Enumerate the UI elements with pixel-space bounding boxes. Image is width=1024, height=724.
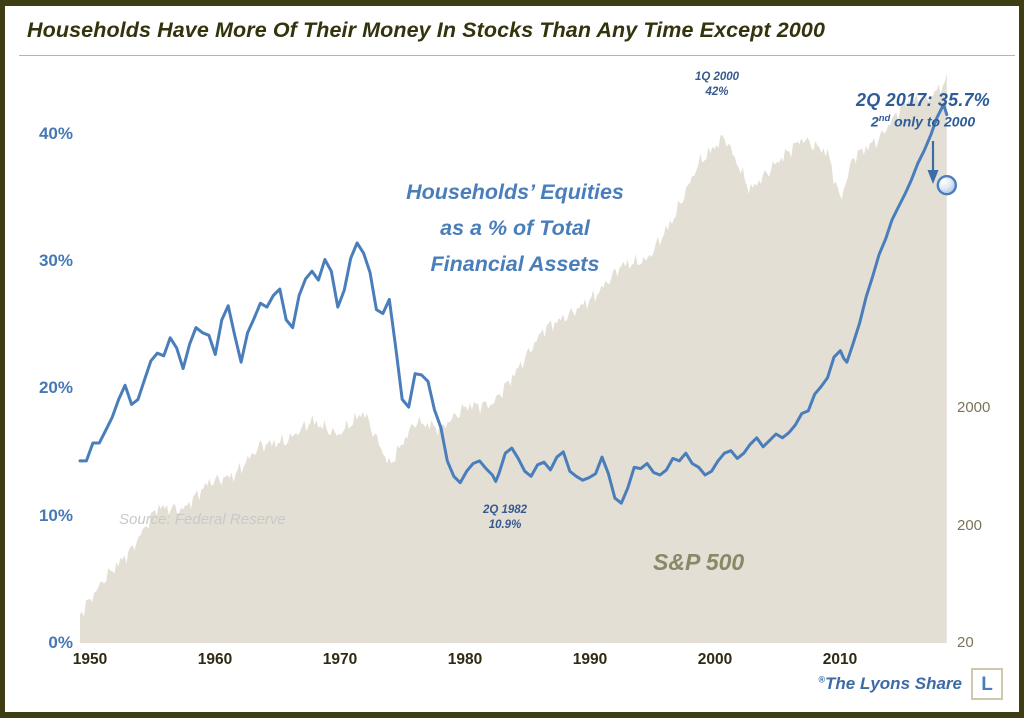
x-axis-label-1970: 1970 (305, 651, 375, 669)
sp500-label: S&P 500 (653, 549, 744, 576)
chart-frame: Households Have More Of Their Money In S… (0, 0, 1024, 718)
y2-axis-label-20: 20 (957, 634, 1017, 651)
source-note: Source: Federal Reserve (119, 511, 286, 528)
sp500-area (80, 74, 947, 644)
y-axis-label-20: 20% (13, 378, 73, 398)
y-axis-label-10: 10% (13, 506, 73, 526)
x-axis-label-2010: 2010 (805, 651, 875, 669)
y2-axis-label-200: 200 (957, 517, 1017, 534)
annotation-peak-2000-date: 1Q 2000 (695, 71, 739, 83)
x-axis-label-1960: 1960 (180, 651, 250, 669)
annotation-latest-2017-value: 2Q 2017: 35.7% (833, 90, 1013, 111)
x-axis-label-2000: 2000 (680, 651, 750, 669)
brand-mark[interactable]: ®The Lyons Share L (818, 668, 1003, 700)
annotation-latest-2017: 2Q 2017: 35.7% 2nd only to 2000 (833, 90, 1013, 130)
brand-logo-icon: L (971, 668, 1003, 700)
series-label: Households’ Equities as a % of Total Fin… (377, 174, 653, 282)
annotation-latest-rank-rest: only to 2000 (890, 114, 975, 130)
x-axis-label-1980: 1980 (430, 651, 500, 669)
annotation-trough-1982-value: 10.9% (489, 519, 522, 531)
y2-axis-label-2000: 2000 (957, 399, 1017, 416)
series-label-line2: as a % of Total (440, 216, 590, 240)
x-axis-label-1990: 1990 (555, 651, 625, 669)
y-axis-label-30: 30% (13, 251, 73, 271)
brand-name: ®The Lyons Share (818, 674, 962, 694)
annotation-latest-2017-note: 2nd only to 2000 (833, 113, 1013, 130)
annotation-trough-1982: 2Q 1982 10.9% (455, 503, 555, 533)
latest-value-marker (938, 176, 956, 194)
y-axis-label-40: 40% (13, 124, 73, 144)
annotation-peak-2000-value: 42% (705, 86, 728, 98)
brand-name-text: The Lyons Share (825, 674, 962, 693)
series-label-line1: Households’ Equities (406, 180, 624, 204)
annotation-latest-rank-num: 2 (871, 114, 879, 130)
annotation-latest-rank-suffix: nd (879, 113, 891, 124)
annotation-trough-1982-date: 2Q 1982 (483, 504, 527, 516)
series-label-line3: Financial Assets (431, 252, 600, 276)
annotation-peak-2000: 1Q 2000 42% (667, 70, 767, 100)
x-axis-label-1950: 1950 (55, 651, 125, 669)
y-axis-label-0: 0% (13, 633, 73, 653)
